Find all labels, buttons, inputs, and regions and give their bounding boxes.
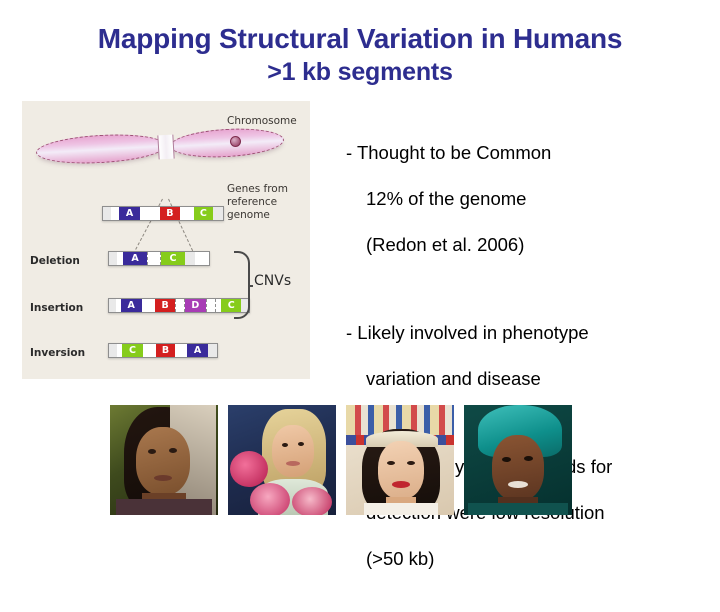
chromosome-arm-right-icon (169, 126, 284, 160)
gene-segment-c: C (161, 252, 185, 265)
bullet-line: (>50 kb) (346, 547, 714, 570)
photo-face (272, 425, 314, 477)
gene-segment-blank (175, 344, 187, 357)
gene-segment-blank (142, 299, 156, 312)
gene-segment-a: A (121, 299, 142, 312)
slide-canvas: Mapping Structural Variation in Humans >… (0, 0, 720, 540)
gene-segment-cap (185, 252, 195, 265)
photo-mouth (508, 481, 528, 488)
centromere-band-icon (157, 135, 174, 160)
gene-segment-b: B (160, 207, 180, 220)
bullet-line: - Likely involved in phenotype (346, 321, 714, 344)
centromere-dot-icon (230, 136, 241, 147)
photo-eye-left (282, 443, 288, 447)
bullet-line: (Redon et al. 2006) (346, 233, 714, 256)
gene-segment-cap (213, 207, 223, 220)
photo-eye-right (407, 461, 415, 465)
gene-bar-deletion: A C (108, 251, 210, 266)
photo-eye-left (148, 449, 156, 454)
photo-face (378, 441, 424, 499)
photo-shirt (364, 503, 438, 515)
gene-bar-reference: A B C (102, 206, 224, 221)
chromosome-label: Chromosome (227, 115, 297, 128)
gene-segment-blank (111, 207, 119, 220)
photo-face (492, 435, 544, 501)
genes-from-reference-genome-label: Genes from reference genome (227, 183, 288, 222)
portrait-photo-3 (346, 405, 454, 515)
gene-segment-deletion-gap (147, 252, 161, 265)
gene-segment-cap (109, 252, 117, 265)
cnv-brace-icon (234, 251, 250, 319)
slide-title: Mapping Structural Variation in Humans >… (0, 22, 720, 88)
gene-segment-insertion-gap (206, 299, 216, 312)
bullet-item: - Likely involved in phenotype variation… (346, 298, 714, 413)
gene-segment-a: A (187, 344, 208, 357)
title-line-2: >1 kb segments (0, 56, 720, 88)
photo-eye-left (387, 461, 395, 465)
portrait-photo-4 (464, 405, 572, 515)
photo-eye-left (502, 457, 511, 462)
row-label-insertion: Insertion (30, 302, 83, 314)
gene-segment-c: C (122, 344, 143, 357)
photo-eye-right (298, 442, 304, 446)
photo-shirt (116, 499, 212, 515)
portrait-photo-strip (110, 405, 610, 515)
photo-flower (292, 487, 332, 515)
chromosome-illustration (34, 127, 284, 175)
photo-shirt (468, 503, 568, 515)
photo-flower (230, 451, 268, 487)
title-line-1: Mapping Structural Variation in Humans (0, 22, 720, 56)
gene-segment-cap (208, 344, 217, 357)
row-label-inversion: Inversion (30, 347, 85, 359)
bullet-line: - Thought to be Common (346, 141, 714, 164)
gene-segment-blank (180, 207, 194, 220)
photo-mouth (286, 461, 300, 466)
portrait-photo-2 (228, 405, 336, 515)
gene-bar-inversion: C B A (108, 343, 218, 358)
gene-segment-a: A (123, 252, 147, 265)
photo-mouth (392, 481, 410, 488)
gene-segment-b: B (155, 299, 175, 312)
gene-segment-blank (140, 207, 160, 220)
gene-segment-cap (109, 344, 117, 357)
structural-variation-figure: Chromosome Genes from reference genome A… (22, 101, 310, 379)
gene-segment-cap (103, 207, 111, 220)
gene-segment-b: B (156, 344, 175, 357)
gene-segment-insertion-gap (175, 299, 185, 312)
photo-eye-right (524, 456, 533, 461)
gene-segment-d: D (185, 299, 206, 312)
gene-segment-c: C (194, 207, 214, 220)
row-label-deletion: Deletion (30, 255, 80, 267)
portrait-photo-1 (110, 405, 218, 515)
chromosome-arm-left-icon (35, 131, 166, 166)
bullet-line: variation and disease (346, 367, 714, 390)
photo-flower (250, 483, 290, 515)
cnv-label: CNVs (254, 273, 291, 289)
photo-eye-right (169, 448, 177, 453)
gene-segment-a: A (119, 207, 141, 220)
bullet-list: - Thought to be Common 12% of the genome… (346, 118, 714, 612)
gene-segment-blank (143, 344, 156, 357)
bullet-line: 12% of the genome (346, 187, 714, 210)
gene-segment-cap (109, 299, 116, 312)
photo-face (136, 427, 190, 495)
gene-bar-insertion: A B D C (108, 298, 250, 313)
photo-mouth (154, 475, 172, 481)
bullet-item: - Thought to be Common 12% of the genome… (346, 118, 714, 279)
